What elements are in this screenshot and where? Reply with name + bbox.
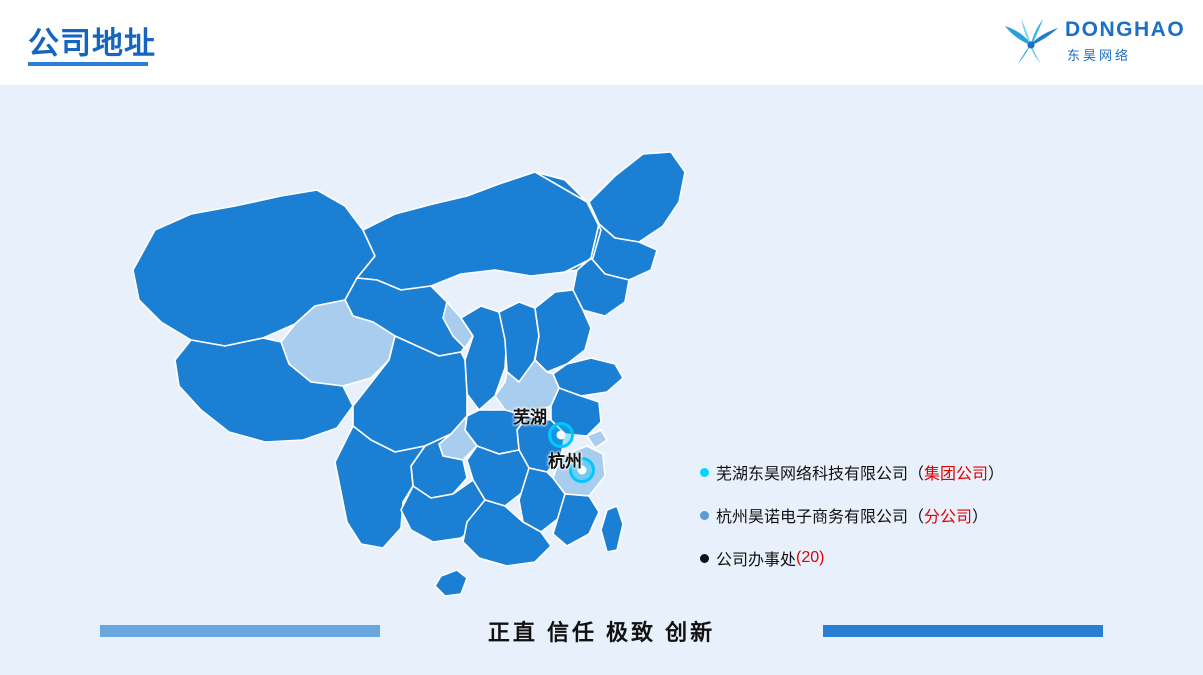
legend-item-tag: 分公司 bbox=[924, 503, 972, 527]
map-label-hangzhou: 杭州 bbox=[548, 447, 582, 472]
legend-bullet-icon bbox=[700, 468, 709, 477]
legend-item-suffix: ） bbox=[988, 460, 1004, 484]
logo-subtitle: 东昊网络 bbox=[1067, 45, 1131, 64]
title-underline bbox=[28, 62, 148, 66]
china-map: 芜湖 杭州 bbox=[95, 110, 735, 610]
legend-item-suffix: ） bbox=[972, 503, 988, 527]
legend: 芜湖东昊网络科技有限公司（ 集团公司 ） 杭州昊诺电子商务有限公司（ 分公司 ）… bbox=[700, 460, 1130, 589]
legend-item-label: 芜湖东昊网络科技有限公司（ bbox=[716, 460, 924, 484]
legend-bullet-icon bbox=[700, 554, 709, 563]
fan-logo-icon bbox=[1001, 16, 1061, 68]
company-logo: DONGHAO 东昊网络 bbox=[1001, 12, 1181, 74]
legend-item-branch-company: 杭州昊诺电子商务有限公司（ 分公司 ） bbox=[700, 503, 1130, 527]
legend-item-tag: (20) bbox=[796, 549, 824, 567]
legend-bullet-icon bbox=[700, 511, 709, 520]
logo-name: DONGHAO bbox=[1065, 18, 1185, 42]
footer-slogan: 正直 信任 极致 创新 bbox=[0, 615, 1203, 647]
legend-item-label: 杭州昊诺电子商务有限公司（ bbox=[716, 503, 924, 527]
region-hainan bbox=[435, 570, 467, 596]
slide-root: 公司地址 DONGHAO 东昊网络 bbox=[0, 0, 1203, 675]
china-map-svg bbox=[95, 110, 735, 610]
legend-item-tag: 集团公司 bbox=[924, 460, 988, 484]
page-title: 公司地址 bbox=[28, 18, 156, 63]
map-marker-wuhu[interactable] bbox=[548, 422, 574, 448]
legend-item-offices: 公司办事处 (20) bbox=[700, 546, 1130, 570]
region-taiwan bbox=[601, 506, 623, 552]
legend-item-group-company: 芜湖东昊网络科技有限公司（ 集团公司 ） bbox=[700, 460, 1130, 484]
slide-header: 公司地址 DONGHAO 东昊网络 bbox=[0, 0, 1203, 85]
map-label-wuhu: 芜湖 bbox=[513, 403, 547, 428]
legend-item-label: 公司办事处 bbox=[716, 546, 796, 570]
